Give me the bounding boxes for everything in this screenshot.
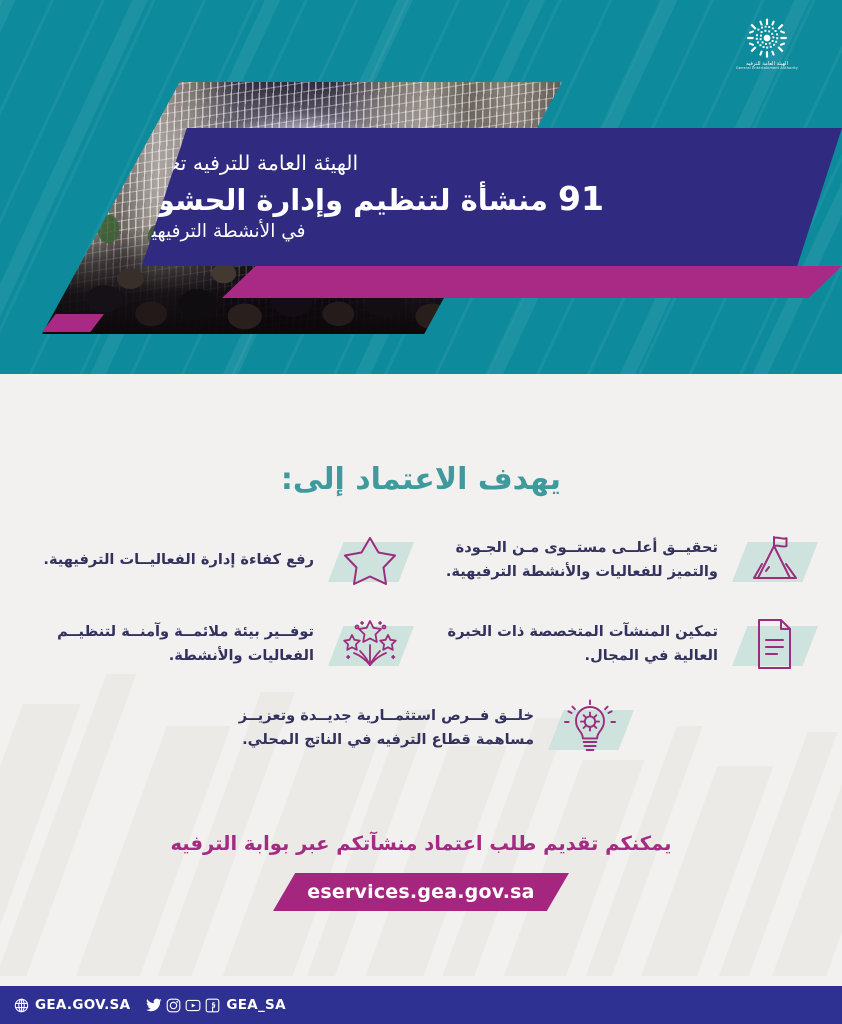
goal-text: تحقيــق أعلــى مستــوى مـن الجـودة والتم… bbox=[426, 536, 718, 583]
document-lines-icon bbox=[728, 610, 820, 678]
cta-button-wrapper: eservices.gea.gov.sa bbox=[0, 873, 842, 911]
hero-section: الهيئة العامة للترفيه General Entertainm… bbox=[0, 0, 842, 374]
facebook-icon[interactable] bbox=[205, 998, 220, 1013]
main-content: يهدف الاعتماد إلى: bbox=[0, 374, 842, 976]
logo-english-name: General Entertainment Authority bbox=[728, 67, 806, 71]
banner-line-3: في الأنشطة الترفيهية bbox=[142, 220, 305, 244]
fireworks-stars-icon bbox=[324, 610, 416, 678]
goal-item-quality: تحقيــق أعلــى مستــوى مـن الجـودة والتم… bbox=[426, 526, 820, 594]
gea-sunburst-logo-icon bbox=[728, 18, 806, 60]
goal-text: توفــير بيئة ملائمــة وآمنــة لتنظيــم ا… bbox=[22, 620, 314, 667]
instagram-icon[interactable] bbox=[166, 998, 181, 1013]
goal-item-safe-environment: توفــير بيئة ملائمــة وآمنــة لتنظيــم ا… bbox=[22, 610, 416, 678]
cta-heading: يمكنكم تقديم طلب اعتماد منشآتكم عبر بواب… bbox=[0, 832, 842, 855]
goal-item-investment: خلــق فــرص استثمــارية جديــدة وتعزيــز… bbox=[206, 694, 636, 762]
footer-bar: GEA.GOV.SA bbox=[0, 986, 842, 1024]
page-title: يهدف الاعتماد إلى: bbox=[0, 462, 842, 497]
star-icon bbox=[324, 526, 416, 594]
footer-website-group[interactable]: GEA.GOV.SA bbox=[14, 997, 130, 1013]
goal-text: تمكين المنشآت المتخصصة ذات الخبرة العالي… bbox=[426, 620, 718, 667]
lightbulb-gear-icon bbox=[544, 694, 636, 762]
gea-logo: الهيئة العامة للترفيه General Entertainm… bbox=[728, 18, 806, 80]
goal-item-efficiency: رفع كفاءة إدارة الفعاليــات الترفيهية. bbox=[22, 526, 416, 594]
goals-row-2: تمكين المنشآت المتخصصة ذات الخبرة العالي… bbox=[22, 610, 820, 678]
mountain-flag-icon bbox=[728, 526, 820, 594]
footer-handle-label: GEA_SA bbox=[226, 997, 285, 1013]
eservices-link-button[interactable]: eservices.gea.gov.sa bbox=[273, 873, 569, 911]
banner-line-2-text: منشأة لتنظيم وإدارة الحشود bbox=[142, 183, 548, 217]
banner-line-2: 91 منشأة لتنظيم وإدارة الحشود bbox=[142, 177, 604, 221]
footer-website-label: GEA.GOV.SA bbox=[35, 997, 130, 1013]
goal-text: خلــق فــرص استثمــارية جديــدة وتعزيــز… bbox=[206, 704, 534, 751]
goal-item-expertise: تمكين المنشآت المتخصصة ذات الخبرة العالي… bbox=[426, 610, 820, 678]
globe-icon bbox=[14, 998, 29, 1013]
footer-social-icons bbox=[146, 998, 220, 1013]
goals-row-3: خلــق فــرص استثمــارية جديــدة وتعزيــز… bbox=[22, 694, 820, 762]
hero-accent-strip bbox=[222, 266, 842, 298]
twitter-icon[interactable] bbox=[146, 998, 162, 1012]
infographic-page: الهيئة العامة للترفيه General Entertainm… bbox=[0, 0, 842, 1024]
goals-row-1: تحقيــق أعلــى مستــوى مـن الجـودة والتم… bbox=[22, 526, 820, 594]
banner-count: 91 bbox=[558, 179, 604, 218]
footer-social-group[interactable]: GEA_SA bbox=[146, 997, 285, 1013]
cta-section: يمكنكم تقديم طلب اعتماد منشآتكم عبر بواب… bbox=[0, 832, 842, 911]
goals-list: تحقيــق أعلــى مستــوى مـن الجـودة والتم… bbox=[22, 526, 820, 778]
youtube-icon[interactable] bbox=[185, 998, 201, 1013]
hero-banner: الهيئة العامة للترفيه تعتمد 91 منشأة لتن… bbox=[142, 128, 842, 266]
goal-text: رفع كفاءة إدارة الفعاليــات الترفيهية. bbox=[22, 548, 314, 572]
